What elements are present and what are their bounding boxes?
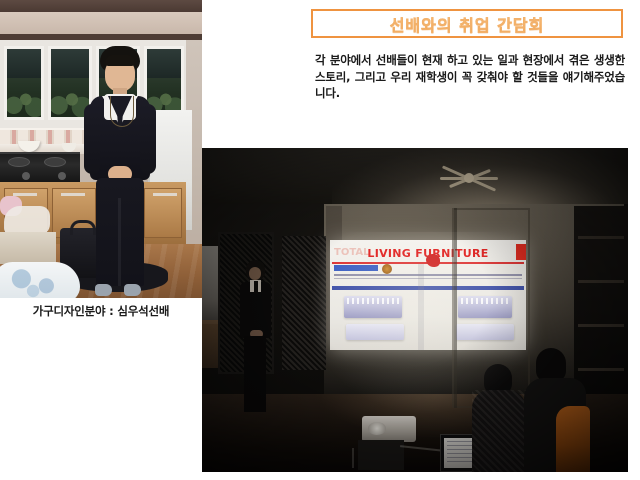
torso <box>472 390 526 472</box>
cable <box>352 448 368 468</box>
presentation-slide: 가구디자인분야 : 심우석선배 선배와의 취업 간담회 각 분야에서 선배들이 … <box>0 0 640 480</box>
range-knob <box>22 172 30 180</box>
photo-scene-left <box>0 0 202 298</box>
trousers <box>244 336 266 412</box>
mattress-image <box>344 296 402 318</box>
trousers <box>96 178 144 286</box>
window-pane <box>4 46 44 120</box>
door-seam <box>454 208 457 408</box>
seal-icon <box>382 264 392 274</box>
slide-tag <box>334 265 378 271</box>
cardboard-box <box>0 232 56 264</box>
photo-speaker-kitchen <box>0 0 202 298</box>
red-marker-blot <box>426 254 440 267</box>
projector <box>362 416 416 442</box>
photo-caption-left: 가구디자인분야 : 심우석선배 <box>0 303 202 319</box>
necktie <box>254 281 258 294</box>
mesh-panel <box>282 236 326 370</box>
sock <box>95 284 112 296</box>
slide-body-paragraph: 각 분야에서 선배들이 현재 하고 있는 일과 현장에서 겪은 생생한 스토리,… <box>315 52 625 102</box>
range-knob <box>58 172 66 180</box>
photo-presentation-room: TOTAL LIVING FURNITURE <box>202 148 628 472</box>
ceiling-fan-icon <box>440 170 498 186</box>
head <box>536 348 566 382</box>
burner <box>44 157 66 167</box>
floral-cushion <box>0 262 80 298</box>
arm <box>140 104 156 174</box>
column-gap <box>418 264 424 350</box>
speaker-person <box>238 260 272 412</box>
burner <box>8 157 30 167</box>
arm <box>84 104 100 174</box>
audience-person <box>472 364 526 472</box>
slide-title-text: 선배와의 취업 간담회 <box>390 12 545 36</box>
sock <box>124 284 141 296</box>
gas-range <box>0 152 80 184</box>
slide-title-box: 선배와의 취업 간담회 <box>311 9 623 38</box>
upper-wall <box>0 12 202 34</box>
lanyard <box>110 96 134 127</box>
mattress-image <box>346 324 404 340</box>
audience-person <box>522 348 586 472</box>
orange-jacket <box>556 406 590 472</box>
speaker-person <box>82 46 158 298</box>
ceiling <box>0 0 202 12</box>
face <box>249 267 261 280</box>
